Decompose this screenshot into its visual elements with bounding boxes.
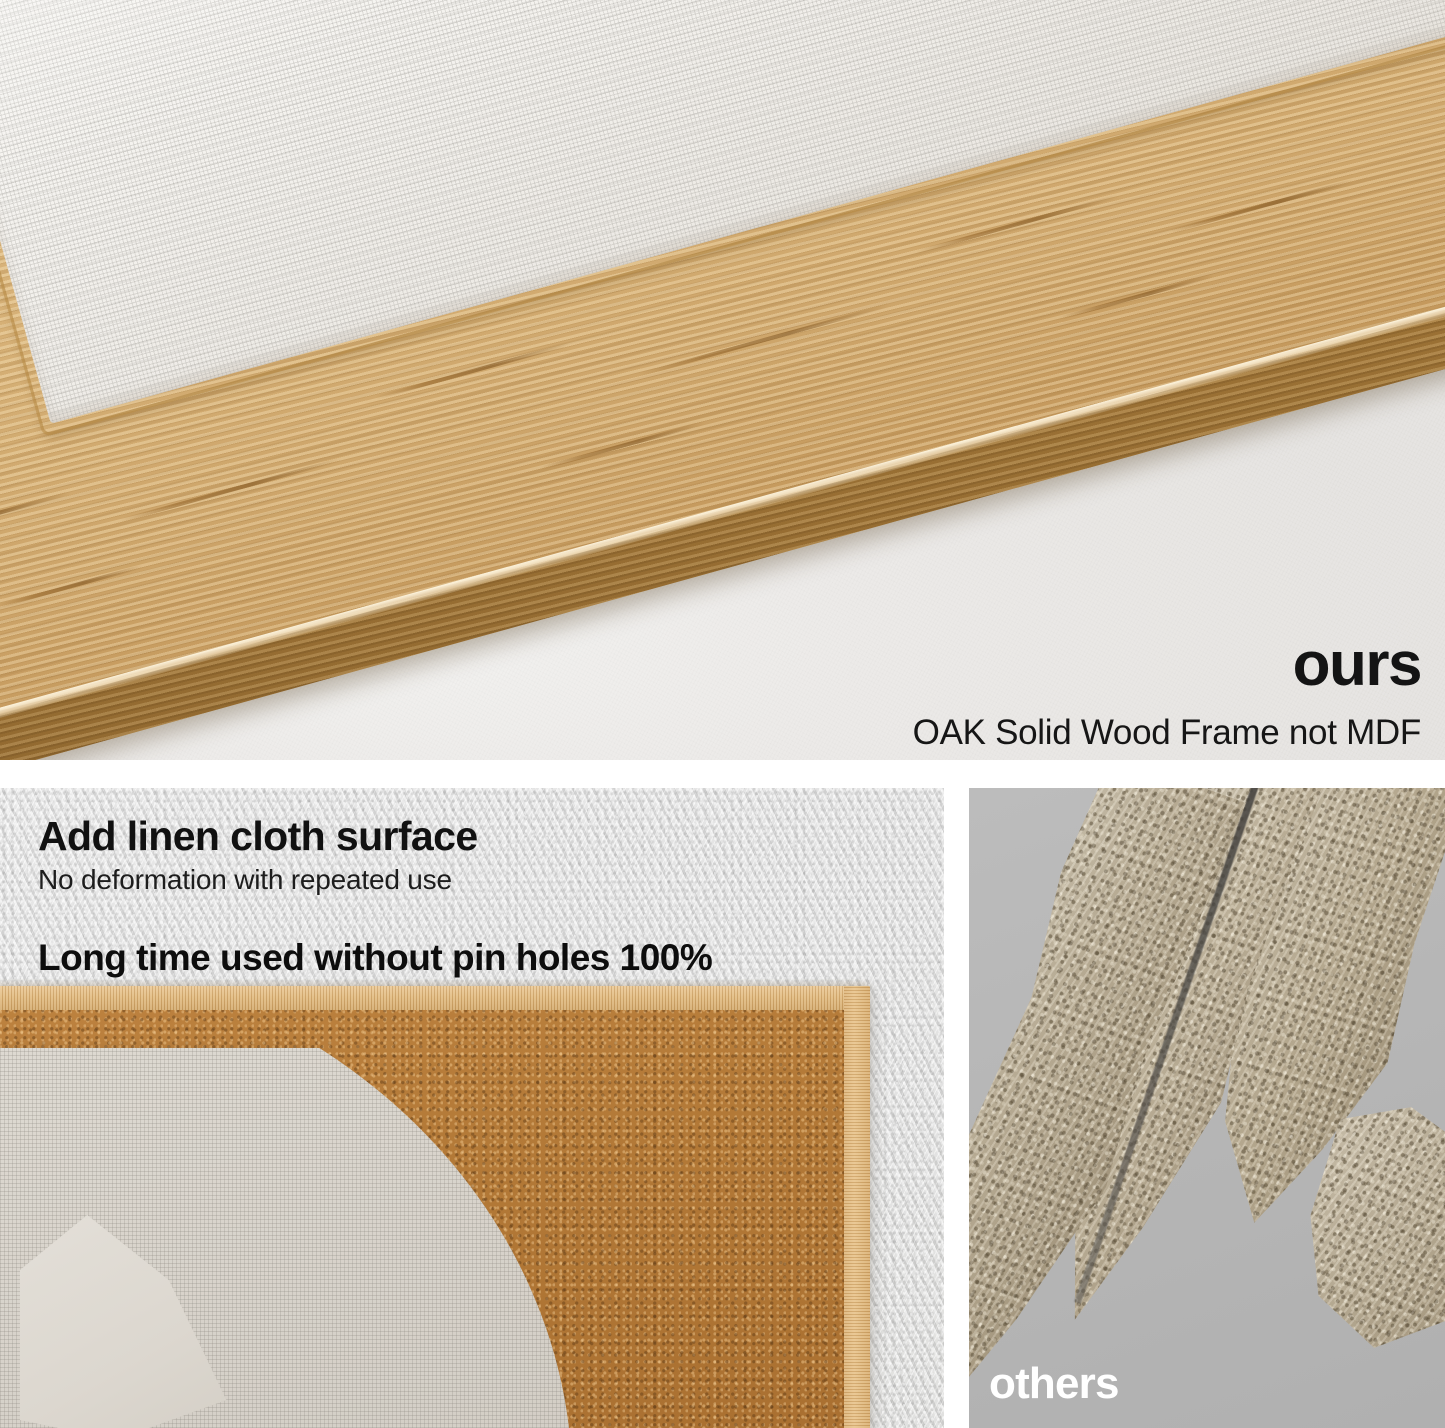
bottom-left-caption-block: Add linen cloth surface No deformation w… <box>38 814 898 979</box>
product-infographic: ours OAK Solid Wood Frame not MDF Add li… <box>0 0 1445 1428</box>
panel-others-mdf: others <box>969 788 1445 1428</box>
others-label: others <box>989 1362 1119 1406</box>
panel-linen-cork-board: Add linen cloth surface No deformation w… <box>0 788 944 1428</box>
board-frame-right-rail <box>844 986 870 1428</box>
framed-cork-board <box>0 986 870 1428</box>
subhead-no-deformation: No deformation with repeated use <box>38 865 898 896</box>
ours-label: ours <box>1293 634 1421 696</box>
cork-surface <box>0 1008 845 1428</box>
headline-add-linen: Add linen cloth surface <box>38 814 898 859</box>
claim-no-pin-holes: Long time used without pin holes 100% <box>38 938 898 979</box>
panel-ours-frame-photo: ours OAK Solid Wood Frame not MDF <box>0 0 1445 760</box>
oak-caption: OAK Solid Wood Frame not MDF <box>913 715 1421 750</box>
board-frame-top-rail <box>0 986 870 1010</box>
